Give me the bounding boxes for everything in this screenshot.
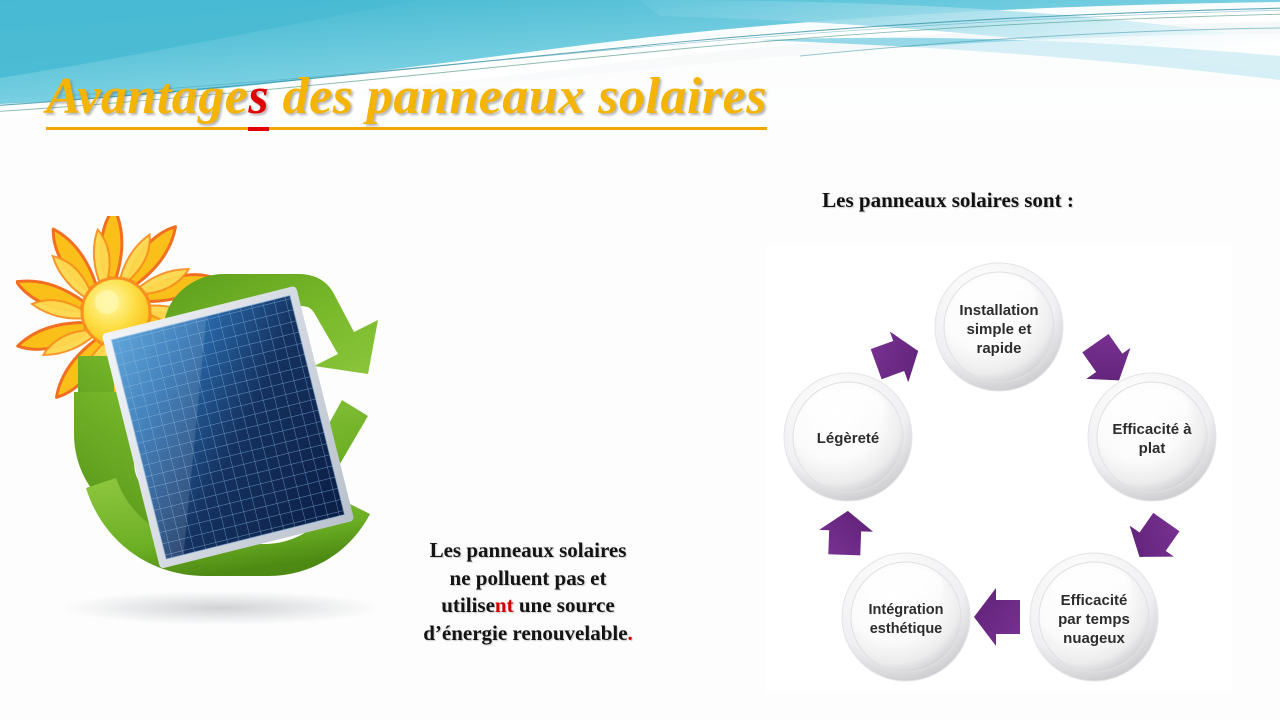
node-efficacite-plat-line-1: Efficacité à <box>1112 421 1192 438</box>
caption-line-2: ne polluent pas et <box>388 565 668 593</box>
node-efficacite-nuageux-line-2: par temps <box>1058 611 1130 628</box>
eco-illustration-graphic <box>16 216 416 628</box>
page-title: Avantages des panneaux solaires <box>46 71 767 123</box>
node-efficacite-nuageux-line-1: Efficacité <box>1061 592 1128 609</box>
node-legerete[interactable]: Légèreté <box>784 373 912 501</box>
node-integration-line-1: Intégration <box>869 602 944 618</box>
title-part-2: des panneaux solaires <box>269 68 767 130</box>
caption-accent-period: . <box>628 621 633 645</box>
node-efficacite-nuageux[interactable]: Efficacité par temps nuageux <box>1030 553 1158 681</box>
node-installation-line-1: Installation <box>959 302 1038 319</box>
slide: Avantages des panneaux solaires <box>0 0 1280 720</box>
title-accent-s: s <box>248 68 269 131</box>
right-panel-heading: Les panneaux solaires sont : <box>748 188 1148 213</box>
node-efficacite-nuageux-line-3: nuageux <box>1063 630 1125 647</box>
caption-line-3: utilisent une source <box>388 592 668 620</box>
left-caption: Les panneaux solaires ne polluent pas et… <box>388 537 668 648</box>
cycle-diagram: Installation simple et rapide Efficacité… <box>766 245 1232 693</box>
caption-accent-nt: nt <box>495 593 514 617</box>
node-integration[interactable]: Intégration esthétique <box>842 553 970 681</box>
node-legerete-line-1: Légèreté <box>817 430 880 447</box>
illustration-shadow <box>61 591 381 625</box>
node-installation[interactable]: Installation simple et rapide <box>935 263 1063 391</box>
node-integration-line-2: esthétique <box>870 621 943 637</box>
node-installation-line-3: rapide <box>976 340 1021 357</box>
cycle-diagram-graphic: Installation simple et rapide Efficacité… <box>766 245 1232 693</box>
node-efficacite-plat[interactable]: Efficacité à plat <box>1088 373 1216 501</box>
caption-line-1: Les panneaux solaires <box>388 537 668 565</box>
caption-line-4: d’énergie renouvelable. <box>388 620 668 648</box>
title-part-1: Avantage <box>46 68 248 130</box>
node-installation-line-2: simple et <box>966 321 1031 338</box>
solar-panel-recycling-illustration <box>16 216 416 628</box>
node-efficacite-plat-line-2: plat <box>1139 440 1166 457</box>
